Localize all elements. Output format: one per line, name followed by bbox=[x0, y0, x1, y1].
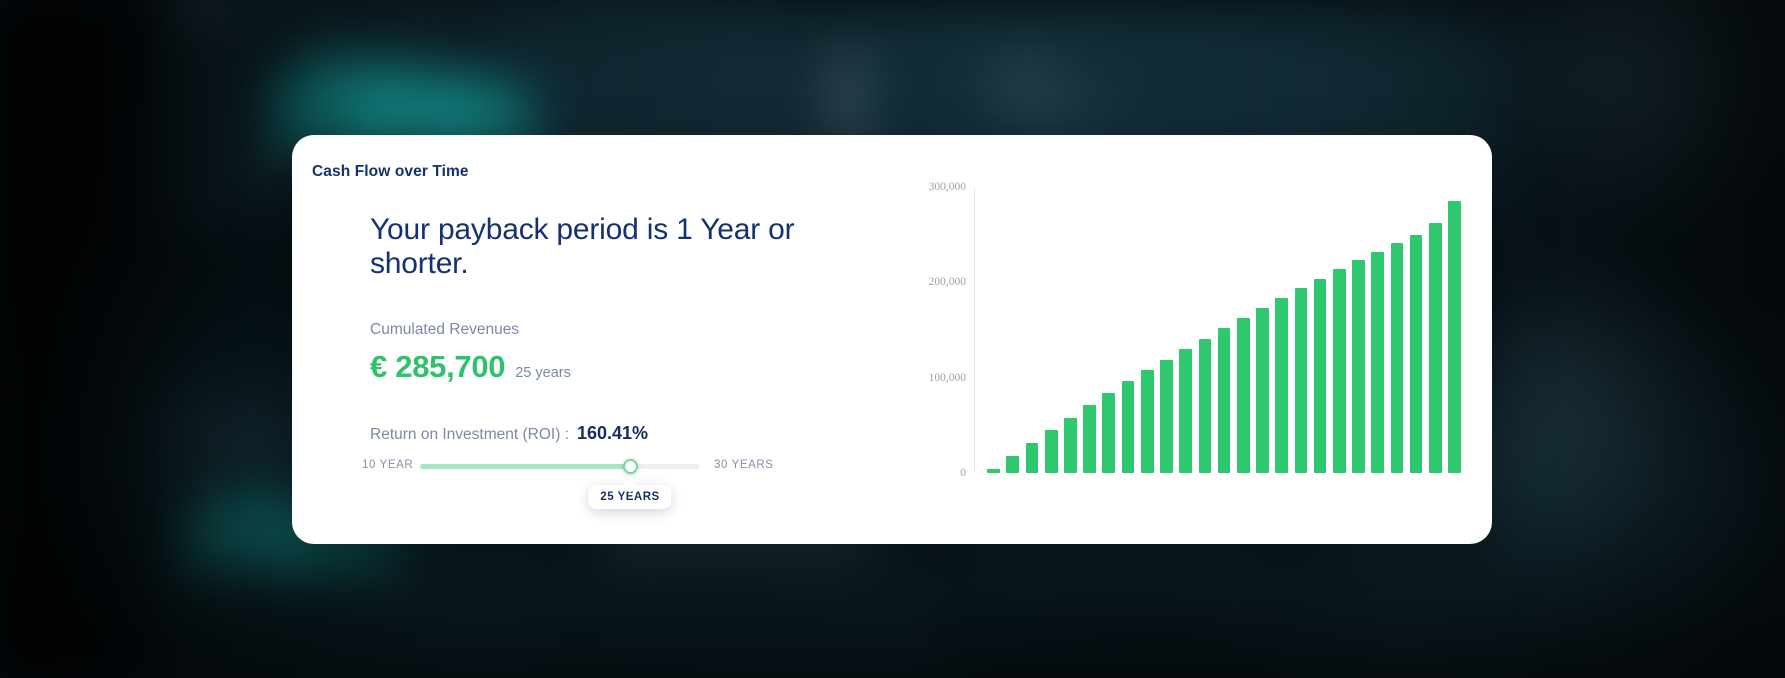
chart-bar bbox=[987, 469, 1000, 473]
chart-bar bbox=[1429, 223, 1442, 473]
chart-bar-slot bbox=[1003, 187, 1022, 473]
chart-bar bbox=[1237, 318, 1250, 473]
chart-bar bbox=[1122, 381, 1135, 473]
y-axis-labels: 0100,000200,000300,000 bbox=[912, 170, 974, 490]
chart-bar bbox=[1064, 418, 1077, 473]
chart-bar-slot bbox=[1426, 187, 1445, 473]
payback-headline: Your payback period is 1 Year or shorter… bbox=[370, 213, 840, 281]
chart-bar bbox=[1045, 430, 1058, 473]
chart-bar bbox=[1295, 288, 1308, 473]
chart-bar-slot bbox=[1061, 187, 1080, 473]
cumulated-revenues-value-row: € 285,700 25 years bbox=[370, 349, 840, 385]
chart-bar-slot bbox=[1310, 187, 1329, 473]
chart-bar bbox=[1083, 405, 1096, 473]
chart-bar bbox=[1006, 456, 1019, 473]
chart-bar bbox=[1391, 243, 1404, 473]
chart-bar-slot bbox=[1349, 187, 1368, 473]
chart-bar bbox=[1160, 360, 1173, 473]
roi-row: Return on Investment (ROI) : 160.41% bbox=[370, 423, 840, 444]
chart-bar bbox=[1275, 298, 1288, 473]
chart-bar-slot bbox=[1022, 187, 1041, 473]
chart-bar-slot bbox=[1080, 187, 1099, 473]
chart-bar-slot bbox=[1406, 187, 1425, 473]
chart-bar-slot bbox=[1253, 187, 1272, 473]
roi-value: 160.41% bbox=[577, 423, 648, 444]
chart-bar bbox=[1410, 235, 1423, 473]
chart-bar bbox=[1218, 328, 1231, 473]
chart-bar-slot bbox=[1214, 187, 1233, 473]
chart-bar-slot bbox=[1291, 187, 1310, 473]
cumulated-revenues-amount: € 285,700 bbox=[370, 349, 505, 385]
chart-bar-slot bbox=[1387, 187, 1406, 473]
cumulated-revenues-label: Cumulated Revenues bbox=[370, 321, 840, 339]
y-axis-tick-label: 0 bbox=[960, 467, 966, 479]
chart-bar bbox=[1026, 443, 1039, 474]
chart-bar bbox=[1448, 201, 1461, 473]
page-title: Cash Flow over Time bbox=[312, 163, 469, 181]
slider-value-tooltip: 25 YEARS bbox=[588, 485, 671, 509]
y-axis-line bbox=[974, 187, 975, 473]
chart-bar-slot bbox=[1330, 187, 1349, 473]
chart-bar-slot bbox=[1272, 187, 1291, 473]
chart-plot-area bbox=[984, 187, 1464, 473]
chart-bar-slot bbox=[1118, 187, 1137, 473]
chart-bar-slot bbox=[1157, 187, 1176, 473]
y-axis-tick-label: 200,000 bbox=[929, 276, 966, 288]
y-axis-tick-label: 100,000 bbox=[929, 372, 966, 384]
chart-bar bbox=[1371, 252, 1384, 473]
chart-bar bbox=[1352, 260, 1365, 473]
chart-bar-slot bbox=[1099, 187, 1118, 473]
screenshot-root: Cash Flow over Time Your payback period … bbox=[0, 0, 1785, 678]
summary-column: Your payback period is 1 Year or shorter… bbox=[370, 213, 840, 444]
chart-bar-slot bbox=[984, 187, 1003, 473]
slider-track[interactable] bbox=[420, 464, 700, 469]
y-axis-tick-label: 300,000 bbox=[929, 181, 966, 193]
chart-bar bbox=[1179, 349, 1192, 473]
chart-bar-slot bbox=[1234, 187, 1253, 473]
chart-bar bbox=[1314, 279, 1327, 473]
chart-bar bbox=[1333, 269, 1346, 473]
slider-track-fill bbox=[420, 464, 630, 469]
chart-bar-slot bbox=[1042, 187, 1061, 473]
roi-label: Return on Investment (ROI) : bbox=[370, 426, 569, 444]
chart-bar bbox=[1256, 308, 1269, 473]
chart-bar bbox=[1102, 393, 1115, 473]
slider-min-label: 10 YEAR bbox=[362, 459, 413, 471]
chart-bar-slot bbox=[1138, 187, 1157, 473]
chart-bar-slot bbox=[1368, 187, 1387, 473]
cumulated-revenues-period: 25 years bbox=[515, 365, 571, 381]
slider-max-label: 30 YEARS bbox=[714, 459, 774, 471]
chart-bar bbox=[1141, 370, 1154, 473]
chart-bar bbox=[1199, 339, 1212, 473]
chart-bar-slot bbox=[1445, 187, 1464, 473]
years-slider[interactable]: 10 YEAR 30 YEARS 25 YEARS bbox=[362, 455, 832, 525]
slider-knob[interactable] bbox=[623, 459, 638, 474]
cash-flow-bar-chart: 0100,000200,000300,000 bbox=[912, 170, 1472, 530]
chart-bar-slot bbox=[1195, 187, 1214, 473]
chart-bar-slot bbox=[1176, 187, 1195, 473]
cash-flow-card: Cash Flow over Time Your payback period … bbox=[292, 135, 1492, 544]
